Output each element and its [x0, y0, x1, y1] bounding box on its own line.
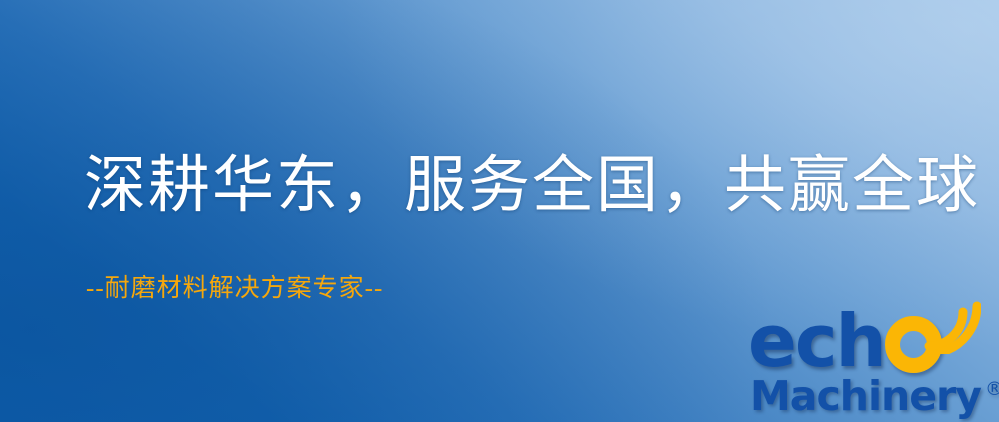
logo-wordmark-line1: ech [748, 302, 949, 374]
logo-wordmark-line2: Machinery ® [750, 372, 999, 420]
banner-subtitle: --耐磨材料解决方案专家-- [86, 268, 383, 304]
banner-headline: 深耕华东，服务全国，共赢全球 [84, 152, 980, 220]
echo-signal-waves-icon [919, 296, 981, 354]
logo-letter-o-group [883, 302, 949, 374]
logo-text-ech: ech [748, 308, 885, 374]
registered-trademark-icon: ® [985, 378, 999, 400]
echo-machinery-logo: ech Machinery ® [748, 302, 993, 420]
logo-text-machinery: Machinery [750, 372, 981, 420]
promo-banner: 深耕华东，服务全国，共赢全球 --耐磨材料解决方案专家-- ech Machin… [0, 0, 999, 422]
